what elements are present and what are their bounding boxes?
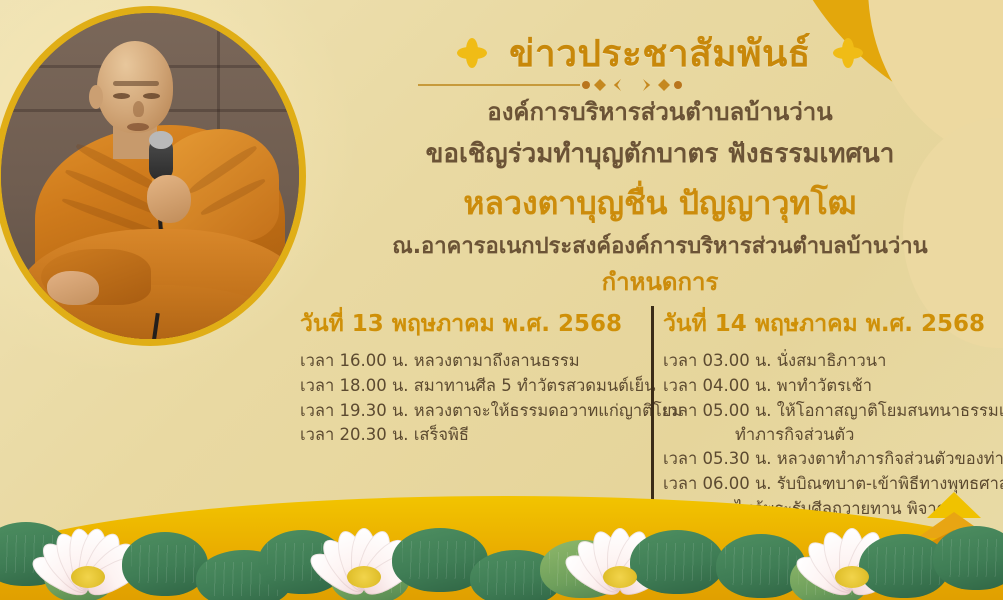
title-divider-ornament bbox=[418, 78, 684, 92]
schedule-item: เวลา 18.00 น. สมาทานศีล 5 ทำวัตรสวดมนต์เ… bbox=[300, 374, 645, 398]
schedule-item: เวลา 16.00 น. หลวงตามาถึงลานธรรม bbox=[300, 349, 645, 373]
schedule-item: เวลา 20.30 น. เสร็จพิธี bbox=[300, 423, 645, 447]
schedule-column-day1: วันที่ 13 พฤษภาคม พ.ศ. 2568 เวลา 16.00 น… bbox=[300, 306, 645, 448]
schedule-item: เวลา 05.30 น. หลวงตาทำภารกิจส่วนตัวของท่… bbox=[663, 447, 1003, 471]
day1-date: วันที่ 13 พฤษภาคม พ.ศ. 2568 bbox=[300, 306, 645, 342]
schedule-item: เวลา 19.30 น. หลวงตาจะให้ธรรมดอวาทแก่ญาต… bbox=[300, 399, 645, 423]
schedule-item: เวลา 05.00 น. ให้โอกาสญาติโยมสนทนาธรรมแล… bbox=[663, 399, 1003, 423]
page-title: ข่าวประชาสัมพันธ์ bbox=[509, 24, 811, 83]
organization-name: องค์การบริหารส่วนตำบลบ้านว่าน bbox=[330, 92, 990, 131]
invitation-text: ขอเชิญร่วมทำบุญตักบาตร ฟังธรรมเทศนา bbox=[330, 133, 990, 174]
schedule-item: เวลา 04.00 น. พาทำวัตรเช้า bbox=[663, 374, 1003, 398]
lotus-leaf bbox=[933, 526, 1003, 590]
schedule-item: เวลา 03.00 น. นั่งสมาธิภาวนา bbox=[663, 349, 1003, 373]
day2-date: วันที่ 14 พฤษภาคม พ.ศ. 2568 bbox=[663, 306, 1003, 342]
quatrefoil-ornament-right bbox=[833, 38, 863, 68]
venue-text: ณ.อาคารอเนกประสงค์องค์การบริหารส่วนตำบลบ… bbox=[330, 228, 990, 263]
monk-name: หลวงตาบุญชื่น ปัญญาวุทโฒ bbox=[330, 178, 990, 229]
monk-photo bbox=[0, 6, 306, 346]
photo-circle-frame bbox=[0, 6, 306, 346]
lotus-leaf bbox=[122, 532, 208, 596]
schedule-item-continuation: ทำภารกิจส่วนตัว bbox=[663, 423, 1003, 447]
schedule-heading: กำหนดการ bbox=[330, 262, 990, 301]
column-divider bbox=[651, 306, 654, 516]
quatrefoil-ornament-left bbox=[457, 38, 487, 68]
title-row: ข่าวประชาสัมพันธ์ bbox=[330, 28, 990, 78]
lotus-leaf bbox=[630, 530, 724, 594]
monk-photo-scene bbox=[1, 13, 299, 339]
announcement-poster: ข่าวประชาสัมพันธ์ องค์การบริหารส่วนตำบลบ… bbox=[0, 0, 1003, 600]
